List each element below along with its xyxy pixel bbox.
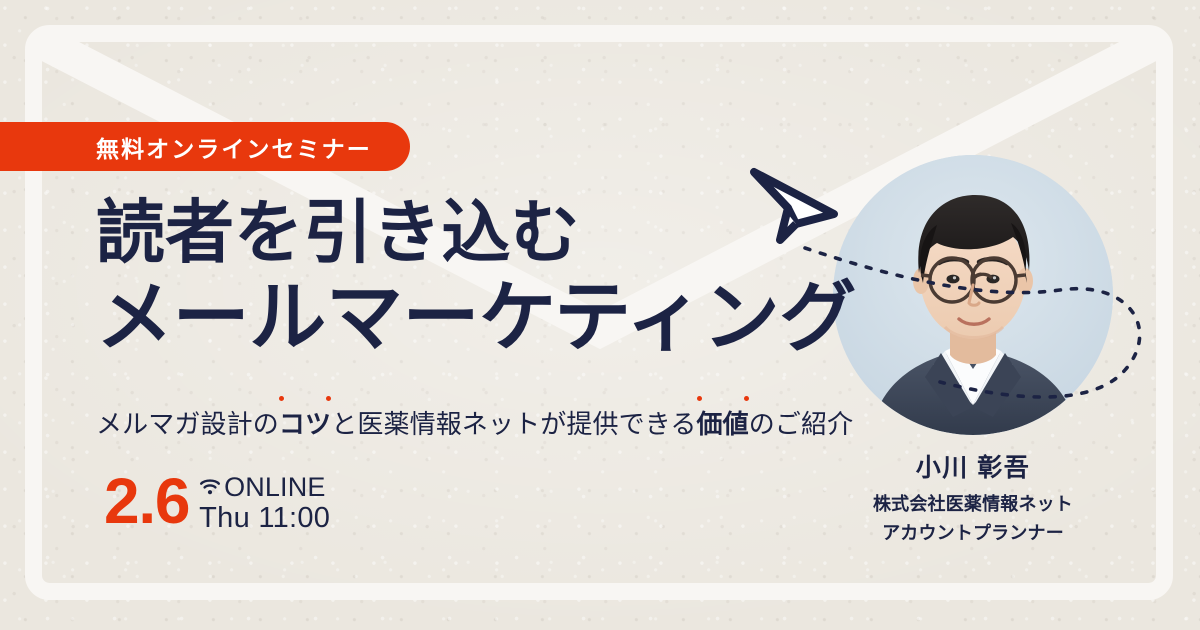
title-line-1: 読者を引き込む: [96, 196, 856, 271]
subtitle-part-2: と医薬情報ネットが提供できる: [331, 409, 696, 439]
subtitle-emphasis-2: 価値: [697, 409, 749, 439]
subtitle-part-1: メルマガ設計の: [96, 409, 279, 439]
wifi-icon: [199, 478, 221, 496]
speaker-role: アカウントプランナー: [833, 519, 1113, 545]
event-time: Thu 11:00: [199, 503, 330, 534]
webinar-banner: 無料オンラインセミナー 読者を引き込む メールマーケティング メルマガ設計のコツ…: [0, 0, 1200, 630]
free-seminar-badge: 無料オンラインセミナー: [0, 122, 410, 171]
subtitle-part-3: のご紹介: [749, 409, 854, 439]
subtitle: メルマガ設計のコツと医薬情報ネットが提供できる価値のご紹介: [96, 404, 853, 441]
speaker-info: 小川 彰吾 株式会社医薬情報ネット アカウントプランナー: [833, 448, 1113, 545]
event-date: 2.6: [104, 470, 189, 532]
event-date-block: 2.6 ONLINE Thu 11:00: [104, 470, 330, 534]
title-line-2: メールマーケティング: [96, 277, 856, 360]
subtitle-emphasis-1: コツ: [279, 409, 331, 439]
event-format-row: ONLINE: [199, 473, 330, 502]
event-meta: ONLINE Thu 11:00: [199, 473, 330, 534]
event-format: ONLINE: [224, 473, 325, 502]
page-title: 読者を引き込む メールマーケティング: [96, 196, 856, 360]
speaker-company: 株式会社医薬情報ネット: [833, 490, 1113, 516]
speaker-name: 小川 彰吾: [833, 448, 1113, 484]
